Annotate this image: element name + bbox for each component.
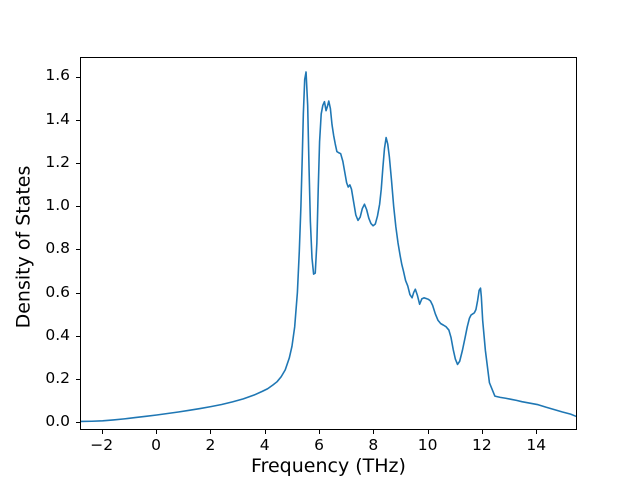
x-tick-mark [536,430,537,434]
x-tick-mark [482,430,483,434]
x-tick-label: −2 [90,436,113,454]
x-tick-label: 12 [472,436,492,454]
y-tick-label: 0.6 [0,283,70,301]
y-tick-label: 0.2 [0,369,70,387]
y-tick-label: 0.0 [0,412,70,430]
phonon-dos-figure: 0.00.20.40.60.81.01.21.41.6 −20246810121… [0,0,640,480]
x-tick-label: 2 [205,436,215,454]
x-tick-mark [319,430,320,434]
x-tick-label: 10 [418,436,438,454]
y-tick-label: 1.4 [0,110,70,128]
x-tick-label: 14 [526,436,546,454]
x-axis-label: Frequency (THz) [80,455,577,477]
x-tick-mark [102,430,103,434]
x-tick-mark [210,430,211,434]
dos-curve-line [81,72,576,421]
x-tick-mark [373,430,374,434]
x-tick-mark [156,430,157,434]
x-tick-label: 8 [368,436,378,454]
x-tick-mark [428,430,429,434]
y-tick-label: 1.2 [0,153,70,171]
y-tick-label: 0.4 [0,326,70,344]
y-tick-label: 1.6 [0,66,70,84]
x-tick-label: 6 [314,436,324,454]
x-tick-mark [265,430,266,434]
y-tick-label: 0.8 [0,239,70,257]
y-tick-label: 1.0 [0,196,70,214]
y-axis-label: Density of States [13,61,35,434]
x-tick-label: 4 [260,436,270,454]
x-tick-label: 0 [151,436,161,454]
dos-curve-svg [81,58,576,429]
plot-area [80,57,577,430]
